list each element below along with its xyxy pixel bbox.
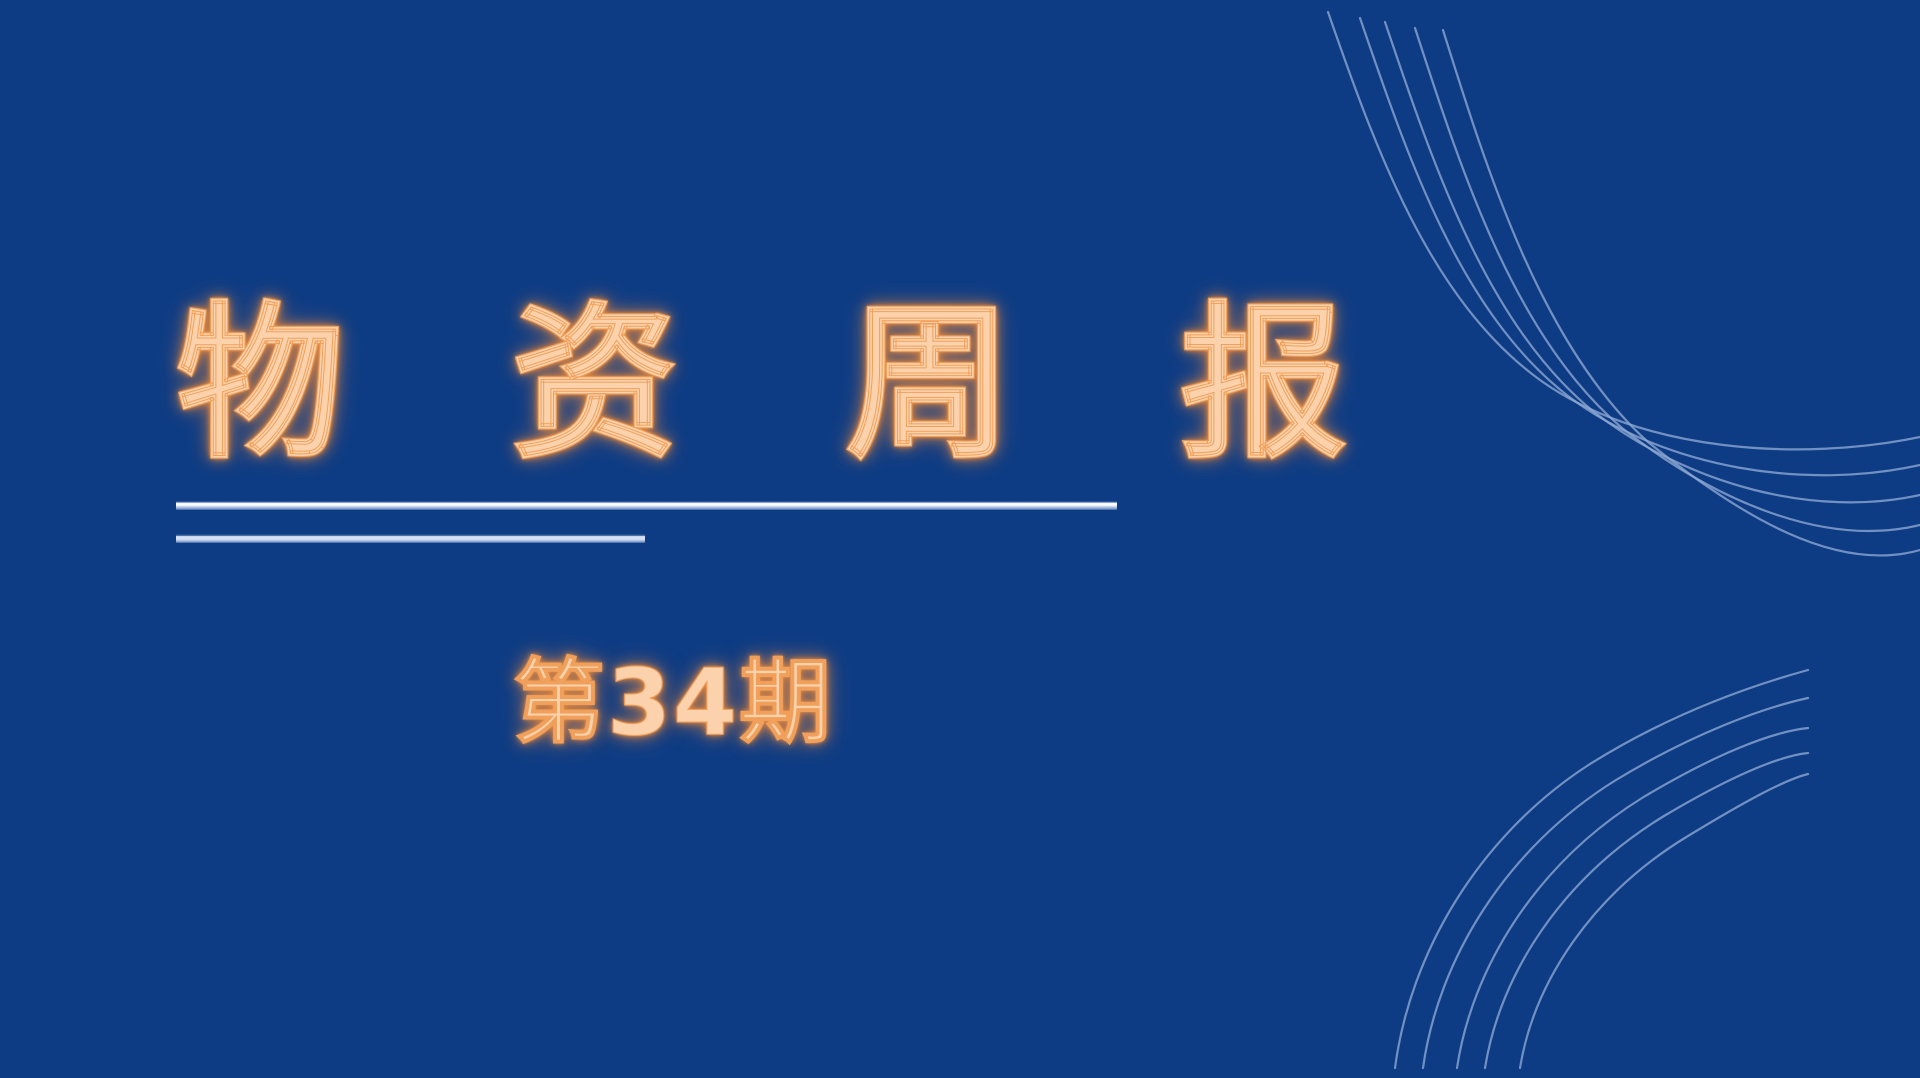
wave-line-1 [1328, 12, 1920, 449]
wave-line-4 [1415, 28, 1920, 531]
slide-subtitle: 第34期 [513, 650, 833, 756]
arc-lines-bottom-right-icon [1300, 598, 1920, 1078]
arc-line-1 [1395, 670, 1808, 1068]
title-underline-primary [176, 501, 1117, 510]
wave-line-3 [1385, 22, 1920, 502]
arc-line-5 [1520, 774, 1808, 1068]
arc-line-4 [1485, 753, 1808, 1068]
wave-line-5 [1443, 30, 1920, 555]
title-block: 物 资 周 报 [176, 296, 1176, 472]
slide-title: 物 资 周 报 [176, 296, 1176, 472]
arc-lines-bottom-right-decoration [1300, 598, 1920, 1078]
title-underline-secondary [176, 534, 645, 543]
wave-line-2 [1360, 18, 1920, 475]
arc-line-2 [1423, 698, 1808, 1068]
arc-line-3 [1457, 728, 1808, 1068]
title-slide: 物 资 周 报 第34期 [0, 0, 1920, 1078]
title-underline-group [176, 501, 1117, 543]
